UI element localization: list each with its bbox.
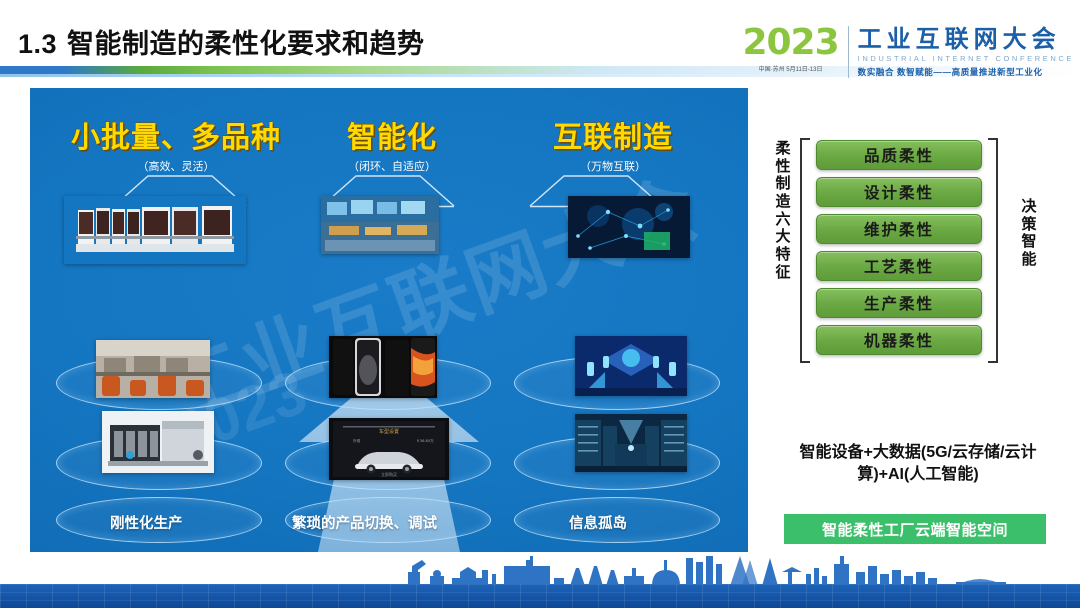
svg-text:外观: 外观 xyxy=(353,438,361,443)
footer-grid xyxy=(0,584,1080,608)
assembly-line-photo xyxy=(96,340,210,398)
column-heading-2-text: 智能化 xyxy=(292,114,492,156)
data-center-photo xyxy=(575,414,687,472)
footer-skyline xyxy=(0,552,1080,608)
logo-divider xyxy=(848,26,849,78)
logo-year-block: 2023 中国·苏州 5月11日-13日 xyxy=(742,26,847,73)
flexibility-box[interactable]: 维护柔性 xyxy=(816,214,982,244)
skyline-silhouette xyxy=(0,552,1080,586)
logo-year: 2023 xyxy=(742,26,838,60)
page-title: 1.3智能制造的柔性化要求和趋势 xyxy=(18,22,425,61)
bottom-label-3: 信息孤岛 xyxy=(569,512,627,533)
bracket-left xyxy=(800,138,810,363)
column-heading-3-text: 互联制造 xyxy=(498,114,728,156)
section-number: 1.3 xyxy=(18,29,57,59)
diagram-panel: 工业互联网大会 2023 小批量、多品种 xyxy=(30,88,748,554)
logo-tagline: 数实融合 数智赋能——高质量推进新型工业化 xyxy=(858,66,1074,78)
bracket-right xyxy=(988,138,998,363)
digital-cloud-photo xyxy=(575,336,687,396)
svg-text:立即购买: 立即购买 xyxy=(381,471,397,477)
logo-text-block: 工业互联网大会 INDUSTRIAL INTERNET CONFERENCE 数… xyxy=(858,26,1074,78)
column-heading-1-text: 小批量、多品种 xyxy=(40,114,312,156)
machine-row-photo xyxy=(64,196,246,264)
logo-name-cn: 工业互联网大会 xyxy=(858,27,1074,52)
svg-text:车型设置: 车型设置 xyxy=(379,428,399,435)
logo-name-en: INDUSTRIAL INTERNET CONFERENCE xyxy=(858,54,1074,63)
flexibility-box[interactable]: 品质柔性 xyxy=(816,140,982,170)
conference-logo: 2023 中国·苏州 5月11日-13日 工业互联网大会 INDUSTRIAL … xyxy=(742,26,1074,78)
flexibility-box-list: 品质柔性 设计柔性 维护柔性 工艺柔性 生产柔性 机器柔性 xyxy=(816,140,982,362)
column-heading-2: 智能化 （闭环、自适应） xyxy=(292,114,492,174)
slide-root: 1.3智能制造的柔性化要求和趋势 2023 中国·苏州 5月11日-13日 工业… xyxy=(0,0,1080,608)
svg-text:￥36.80万: ￥36.80万 xyxy=(416,439,434,443)
decision-intelligence-label: 决策智能 xyxy=(1018,198,1040,269)
cloud-space-banner: 智能柔性工厂云端智能空间 xyxy=(784,514,1046,544)
iot-network-photo xyxy=(568,196,690,258)
bottom-label-2: 繁琐的产品切换、调试 xyxy=(292,512,437,533)
industrial-equipment-photo xyxy=(102,411,214,473)
column-heading-1: 小批量、多品种 （高效、灵活） xyxy=(40,114,312,174)
bottom-label-1: 刚性化生产 xyxy=(110,512,183,533)
technology-stack-text: 智能设备+大数据(5G/云存储/云计算)+AI(人工智能) xyxy=(780,442,1056,485)
column-heading-3: 互联制造 （万物互联） xyxy=(498,114,728,174)
car-config-screen-photo: 车型设置 外观 ￥36.80万 立即购买 xyxy=(329,418,449,480)
flexibility-box[interactable]: 机器柔性 xyxy=(816,325,982,355)
logo-date: 中国·苏州 5月11日-13日 xyxy=(742,64,838,73)
section-title: 智能制造的柔性化要求和趋势 xyxy=(67,29,425,59)
flexibility-box[interactable]: 生产柔性 xyxy=(816,288,982,318)
control-room-photo xyxy=(321,196,439,254)
smartphones-photo xyxy=(329,336,437,398)
flexibility-box[interactable]: 设计柔性 xyxy=(816,177,982,207)
flexibility-box[interactable]: 工艺柔性 xyxy=(816,251,982,281)
flexibility-group-label: 柔性制造六大特征 xyxy=(772,140,794,282)
